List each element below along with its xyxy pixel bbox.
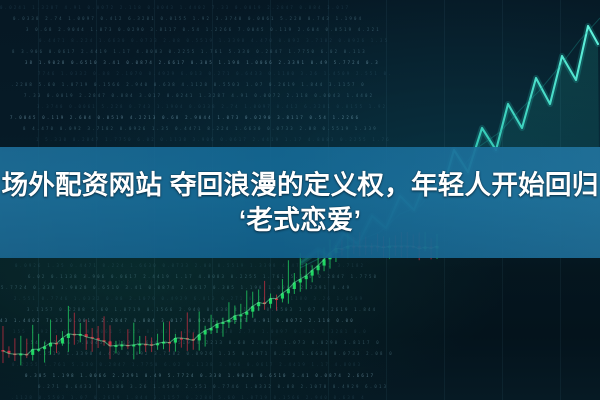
banner-image: 0.0241 1.3287 4.91 0.0072 2.118 0.0043 1… (0, 0, 600, 400)
headline-line-1: 场外配资网站 夺回浪漫的定义权，年轻人开始回归 (1, 168, 598, 202)
page-title: 场外配资网站 夺回浪漫的定义权，年轻人开始回归 ‘老式恋爱’ (0, 147, 600, 258)
headline-line-2: ‘老式恋爱’ (239, 203, 361, 237)
